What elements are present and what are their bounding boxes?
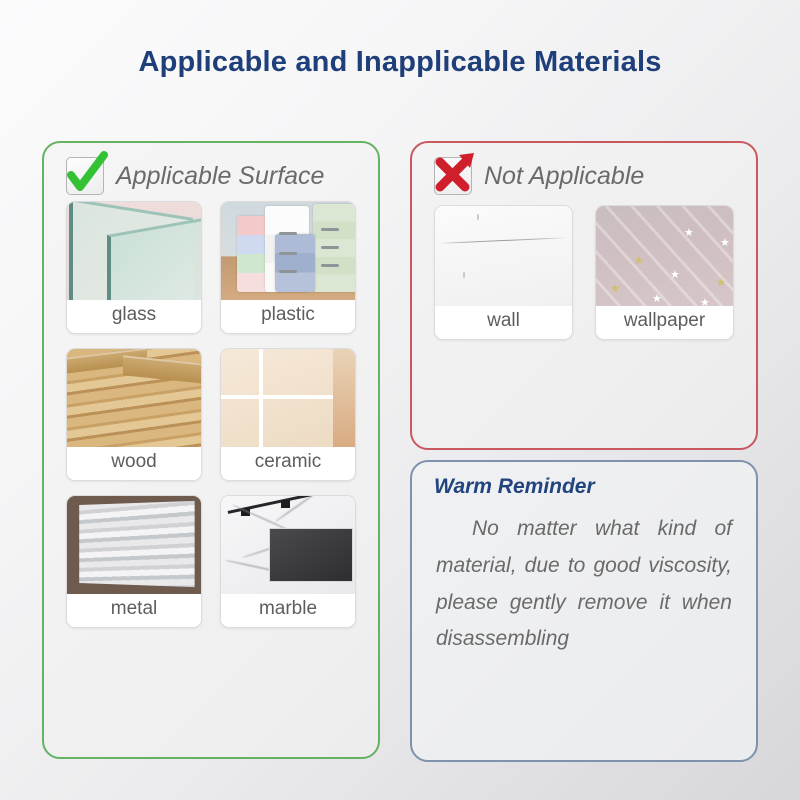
warm-reminder-text: No matter what kind of material, due to … (412, 499, 756, 658)
applicable-panel-header: Applicable Surface (44, 143, 378, 195)
material-tile-wall[interactable]: wall (434, 205, 573, 340)
material-tile-plastic[interactable]: plastic (220, 201, 356, 334)
applicable-panel-title: Applicable Surface (116, 162, 324, 191)
material-tile-metal[interactable]: metal (66, 495, 202, 628)
material-tile-wallpaper[interactable]: ★ ★ ★ ★ ★ ★ ★ ★ wallpaper (595, 205, 734, 340)
wood-planks-photo (67, 349, 201, 447)
applicable-surface-panel: Applicable Surface glass (42, 141, 380, 759)
material-tile-ceramic[interactable]: ceramic (220, 348, 356, 481)
warm-reminder-panel: Warm Reminder No matter what kind of mat… (410, 460, 758, 762)
ceramic-tile-photo (221, 349, 355, 447)
applicable-material-grid: glass plastic wood (44, 195, 378, 628)
material-label-glass: glass (67, 300, 201, 333)
page-title: Applicable and Inapplicable Materials (0, 46, 800, 79)
material-tile-marble[interactable]: marble (220, 495, 356, 628)
red-cross-icon (434, 157, 472, 195)
material-label-marble: marble (221, 594, 355, 627)
material-label-wall: wall (435, 306, 572, 339)
material-label-plastic: plastic (221, 300, 355, 333)
not-applicable-panel-header: Not Applicable (412, 143, 756, 195)
material-tile-glass[interactable]: glass (66, 201, 202, 334)
marble-wall-photo (221, 496, 355, 594)
material-label-wood: wood (67, 447, 201, 480)
not-applicable-panel-title: Not Applicable (484, 162, 644, 191)
green-check-icon (66, 157, 104, 195)
plastic-drawers-photo (221, 202, 355, 300)
star-wallpaper-photo: ★ ★ ★ ★ ★ ★ ★ ★ (596, 206, 733, 306)
glass-photo (67, 202, 201, 300)
not-applicable-panel: Not Applicable wall ★ ★ ★ ★ ★ ★ ★ ★ (410, 141, 758, 450)
material-label-metal: metal (67, 594, 201, 627)
metal-sheet-photo (67, 496, 201, 594)
material-label-wallpaper: wallpaper (596, 306, 733, 339)
not-applicable-material-grid: wall ★ ★ ★ ★ ★ ★ ★ ★ wallpaper (412, 195, 756, 340)
material-tile-wood[interactable]: wood (66, 348, 202, 481)
cracked-wall-photo (435, 206, 572, 306)
material-label-ceramic: ceramic (221, 447, 355, 480)
warm-reminder-title: Warm Reminder (412, 462, 756, 499)
